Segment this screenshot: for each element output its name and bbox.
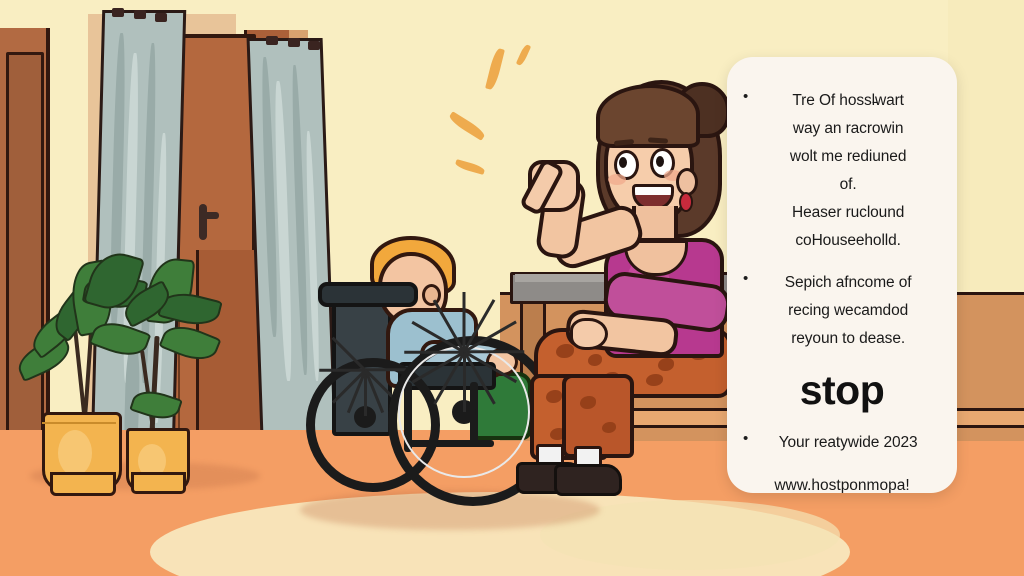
bullet-text-3: Your reatywide 2023 xyxy=(755,429,941,457)
bullet-line: recing wecamdod xyxy=(755,297,941,325)
bullet-marker-icon: • xyxy=(743,87,748,106)
illustration-scene: • Tre Of hossl̵wart way an racrowin wolt… xyxy=(0,0,1024,576)
curtain-ring xyxy=(112,8,124,17)
bullet-marker-icon: • xyxy=(743,429,748,448)
door-handle-icon xyxy=(199,204,207,240)
door-handle-bar-icon xyxy=(199,212,219,219)
wheelchair-armrest xyxy=(318,282,418,307)
bullet-item-2: • Sepich afncome of recing wecamdod reyo… xyxy=(743,269,941,353)
curtain-ring xyxy=(288,38,300,47)
bullet-line: Heaser ruclound xyxy=(755,199,941,227)
info-card[interactable]: • Tre Of hossl̵wart way an racrowin wolt… xyxy=(727,57,957,493)
bullet-item-3: • Your reatywide 2023 xyxy=(743,429,941,457)
bullet-line: wolt me rediuned xyxy=(755,143,941,171)
pot-highlight xyxy=(58,430,92,476)
bullet-line: Tre Of hossl̵wart xyxy=(755,87,941,115)
left-door-panel xyxy=(6,52,44,488)
plant-pot-large-base xyxy=(50,472,116,496)
woman-teeth xyxy=(635,187,671,195)
woman-pupil-left xyxy=(619,157,627,168)
plant-pot-small-base xyxy=(131,472,186,494)
bullet-line: of. xyxy=(755,171,941,199)
woman-pupil-right xyxy=(656,156,664,167)
bullet-marker-icon: • xyxy=(743,269,748,288)
website-url[interactable]: www.hostponmopa! xyxy=(743,471,941,493)
bullet-line: way an racrowin xyxy=(755,115,941,143)
boy-ear xyxy=(422,284,441,306)
bullet-line: coHouseeholld. xyxy=(755,227,941,255)
bullet-item-1: • Tre Of hossl̵wart way an racrowin wolt… xyxy=(743,87,941,255)
curtain-ring xyxy=(134,10,146,19)
bullet-line: reyoun to dease. xyxy=(755,325,941,353)
bullet-line: Your reatywide 2023 xyxy=(755,429,941,457)
wall-right-panel xyxy=(948,0,1024,290)
woman-cheek xyxy=(608,174,626,185)
woman-shoe xyxy=(554,464,622,496)
woman-earring xyxy=(679,192,693,212)
bullet-text-1: Tre Of hossl̵wart way an racrowin wolt m… xyxy=(755,87,941,255)
info-card-content: • Tre Of hossl̵wart way an racrowin wolt… xyxy=(727,57,957,493)
curtain-ring xyxy=(308,41,320,50)
bullet-line: Sepich afncome of xyxy=(755,269,941,297)
curtain-ring xyxy=(155,13,167,22)
bullet-text-2: Sepich afncome of recing wecamdod reyoun… xyxy=(755,269,941,353)
curtain-ring xyxy=(266,36,278,45)
woman-resting-hand xyxy=(570,318,608,350)
plant-pot-large-rim xyxy=(42,412,116,424)
headline-stop: stop xyxy=(743,367,941,413)
